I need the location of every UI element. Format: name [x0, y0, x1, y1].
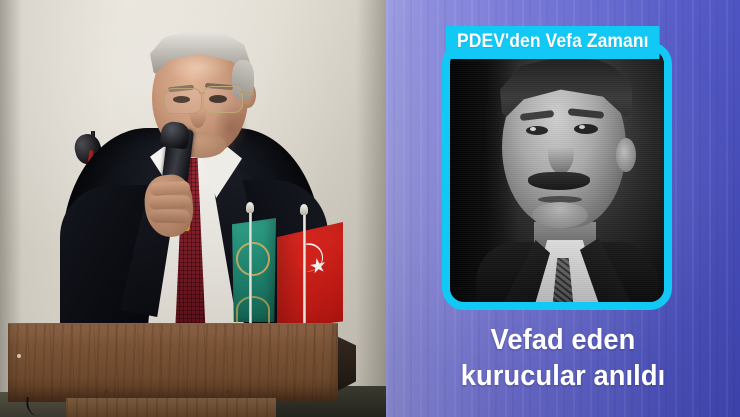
portrait-photo-frame [442, 42, 672, 310]
green-flag-pole [249, 208, 252, 326]
eyeglasses-bridge [199, 92, 205, 94]
speaker-finger [149, 195, 191, 209]
speaker-nose [190, 100, 206, 128]
podium-screw [17, 354, 21, 358]
portrait-eye-right [574, 124, 598, 134]
portrait-chin [532, 202, 588, 228]
event-photo [0, 0, 386, 417]
speaker-finger [150, 210, 190, 224]
portrait-eye-highlight-right [579, 125, 585, 129]
screenshot-stage: PDEV'den Vefa Zamanı Vefad eden kurucula… [0, 0, 740, 417]
turkish-flag-finial [300, 204, 308, 215]
microphone-cable [25, 397, 62, 417]
podium-screw [226, 390, 231, 394]
portrait-photo [450, 50, 664, 302]
portrait-nose [548, 132, 574, 174]
green-flag-emblem [236, 242, 270, 276]
green-flag-finial [246, 202, 254, 213]
news-graphic-panel: PDEV'den Vefa Zamanı Vefad eden kurucula… [386, 0, 740, 417]
banner-title: PDEV'den Vefa Zamanı [446, 26, 660, 59]
wall-edge-right [356, 0, 386, 417]
speaker-finger [150, 181, 191, 197]
headline-line-2: kurucular anıldı [397, 358, 730, 394]
podium-base [66, 398, 276, 417]
headline-line-1: Vefad eden [397, 322, 730, 358]
portrait-ear [616, 138, 636, 172]
portrait-mustache [528, 172, 590, 190]
eyeglasses-lens-right [203, 86, 243, 113]
green-flag-emblem-lower [236, 296, 270, 324]
turkish-flag-pole [303, 210, 306, 332]
portrait-eye-highlight-left [530, 127, 536, 131]
podium-screw [104, 390, 109, 394]
headline: Vefad eden kurucular anıldı [386, 322, 740, 394]
podium-front-panel [8, 323, 338, 402]
turkish-flag [277, 222, 343, 330]
